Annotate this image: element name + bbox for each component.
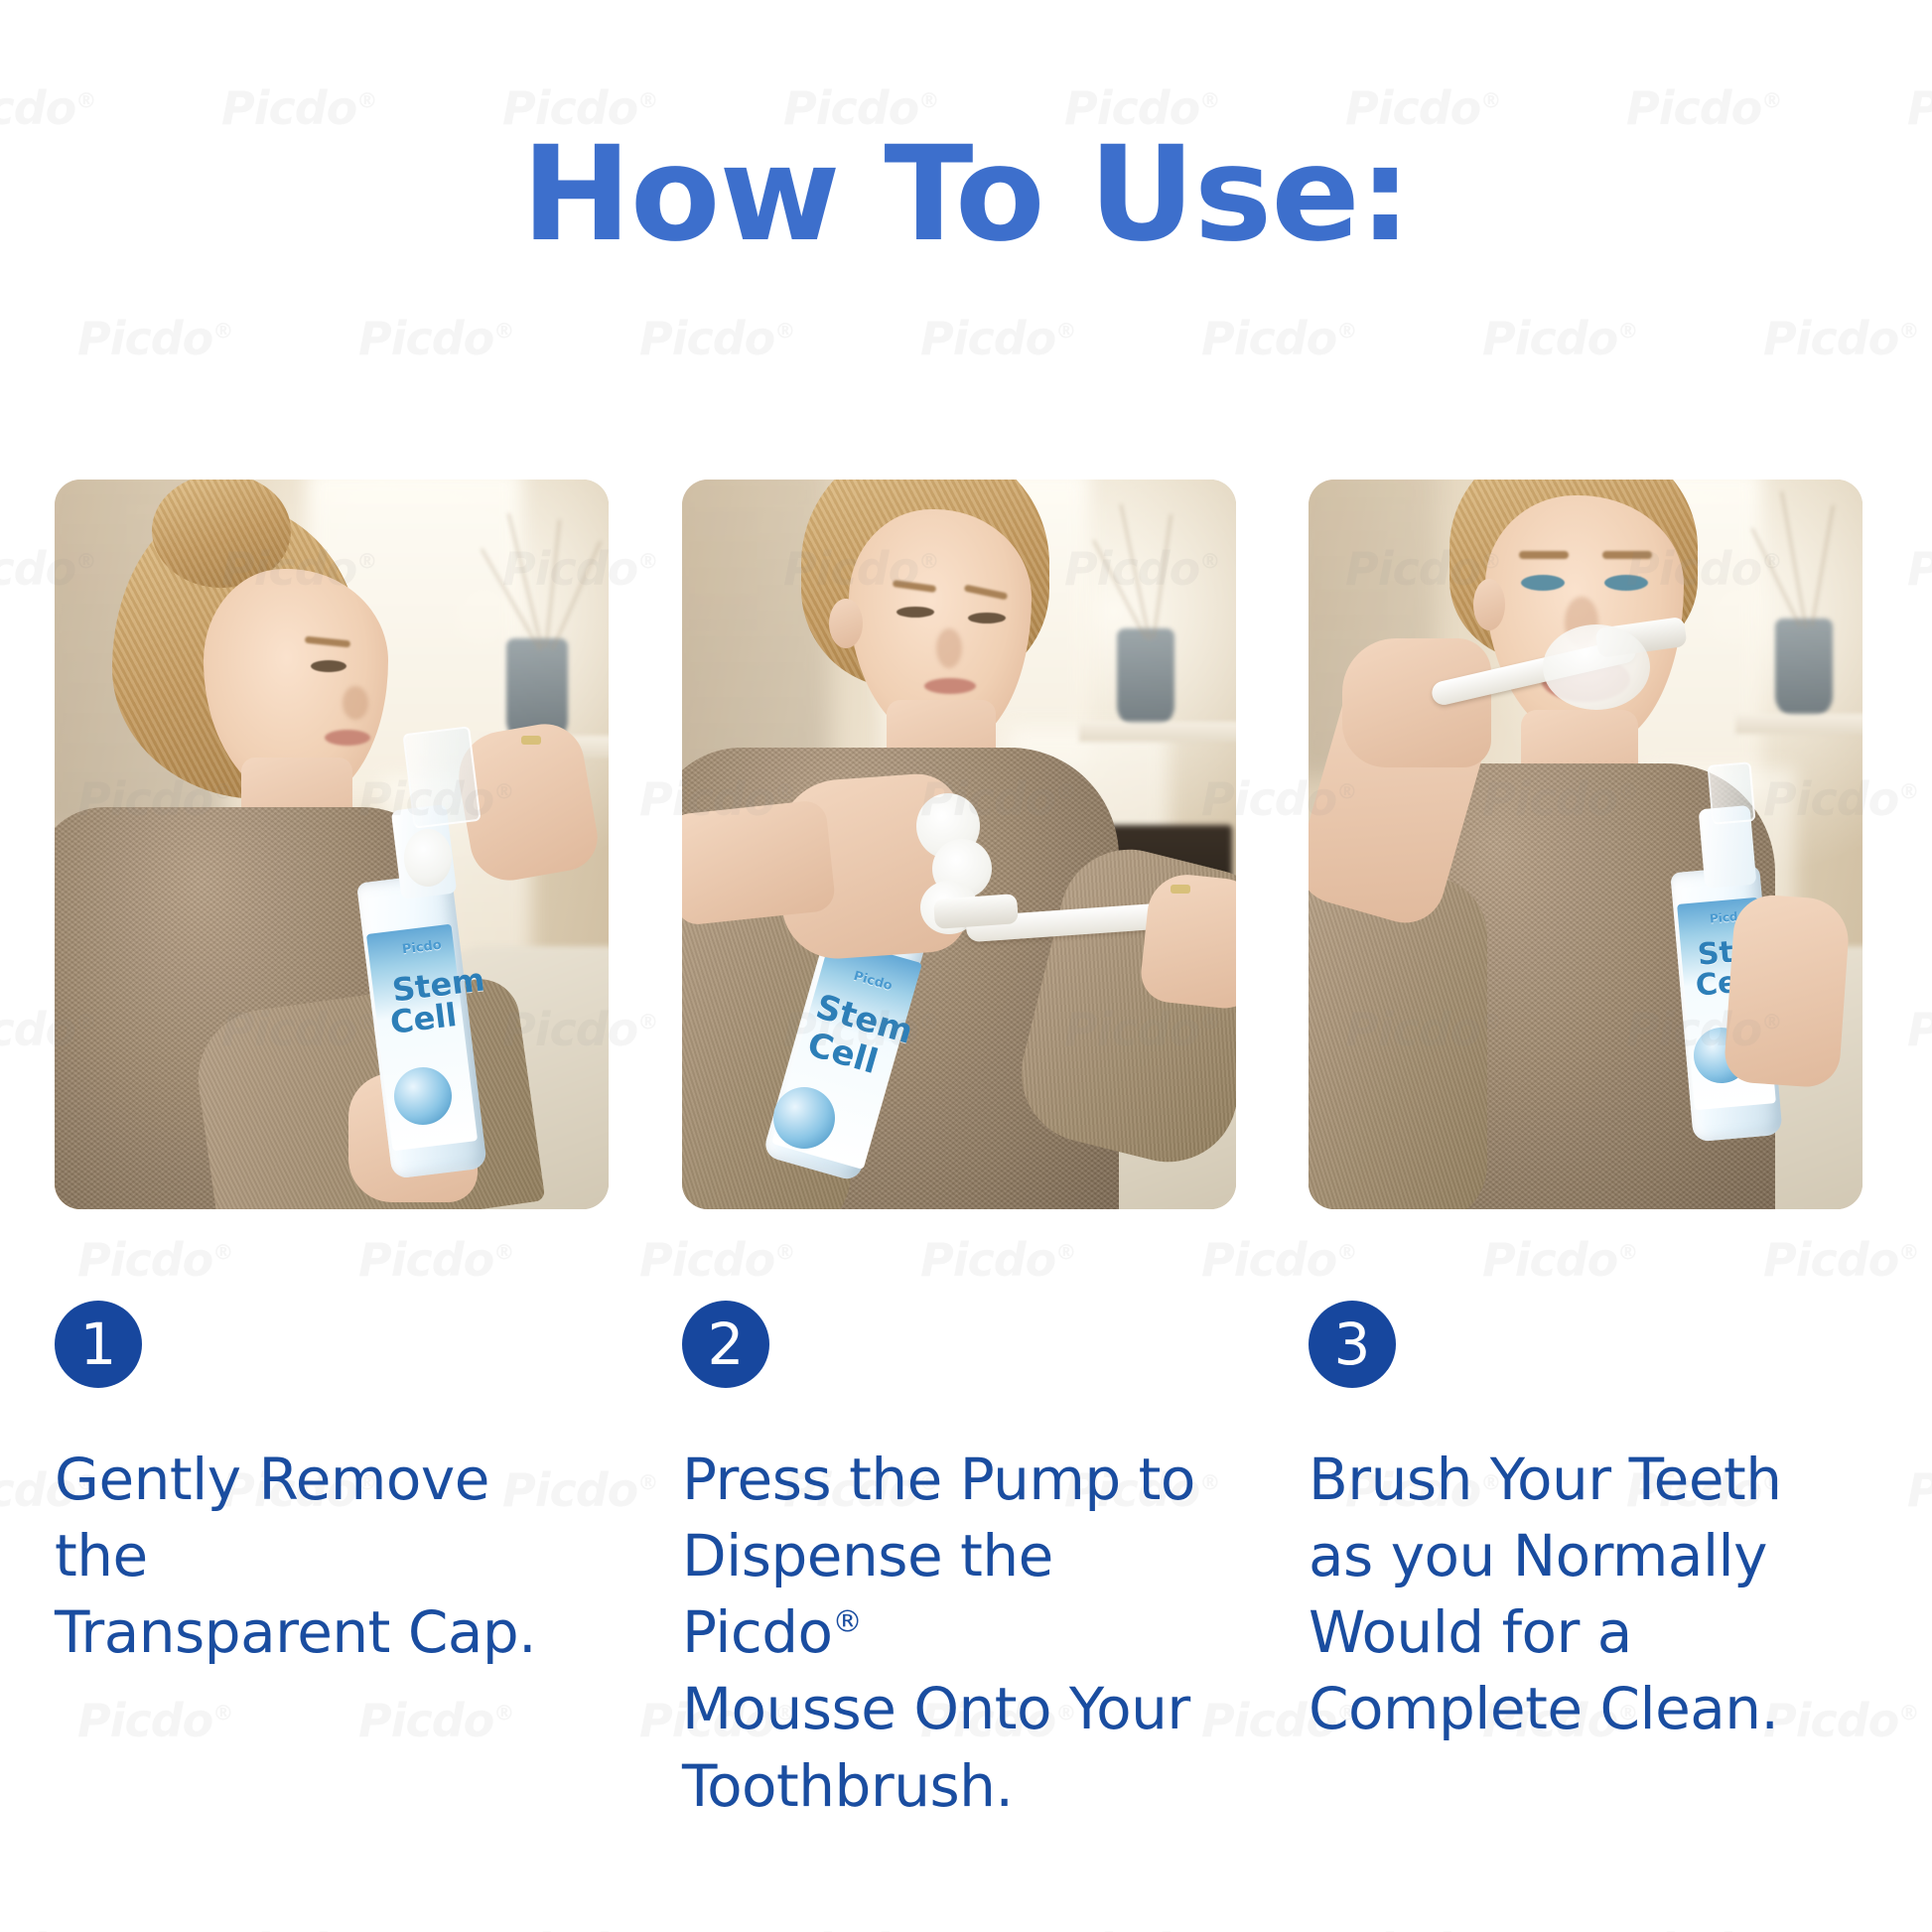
step-2-photo: Picdo Stem Cell [682, 480, 1236, 1209]
ring [521, 736, 541, 745]
watermark-picdo: Picdo® [1201, 1233, 1356, 1287]
step-1-photo: Picdo Stem Cell [55, 480, 609, 1209]
lips [325, 730, 370, 746]
watermark-picdo: Picdo® [1763, 312, 1918, 365]
eye-left [1521, 575, 1565, 591]
sweater-sleeve [1309, 877, 1487, 1209]
watermark-picdo: Picdo® [221, 1924, 376, 1932]
step-2-text: Press the Pump to Dispense the Picdo® Mo… [682, 1442, 1198, 1825]
scene-2: Picdo Stem Cell [682, 480, 1236, 1209]
watermark-picdo: Picdo® [77, 1233, 232, 1287]
nose [343, 686, 368, 720]
brushing-hand [1342, 638, 1491, 767]
ring [1171, 885, 1190, 894]
scene-3: Picdo Stem Cell [1309, 480, 1863, 1209]
eye-left [897, 607, 934, 618]
watermark-picdo: Picdo® [920, 312, 1075, 365]
step-1-number-badge: 1 [55, 1301, 142, 1388]
watermark-picdo: Picdo® [1907, 542, 1932, 596]
twigs [1747, 489, 1863, 638]
watermark-picdo: Picdo® [358, 312, 513, 365]
watermark-picdo: Picdo® [221, 81, 376, 135]
bottle-label-globe [773, 1087, 835, 1149]
watermark-picdo: Picdo® [0, 81, 95, 135]
eyebrow-right [1602, 551, 1652, 559]
watermark-picdo: Picdo® [920, 1233, 1075, 1287]
eye-right [968, 613, 1006, 623]
ear [829, 599, 863, 648]
watermark-picdo: Picdo® [639, 312, 794, 365]
ear [1473, 579, 1505, 630]
watermark-picdo: Picdo® [1907, 81, 1932, 135]
eye-right [1604, 575, 1648, 591]
watermark-picdo: Picdo® [1345, 1924, 1500, 1932]
step-2-number-badge: 2 [682, 1301, 769, 1388]
how-to-use-infographic: How To Use: [0, 0, 1932, 1932]
watermark-picdo: Picdo® [1626, 81, 1781, 135]
watermark-picdo: Picdo® [1626, 1924, 1781, 1932]
watermark-picdo: Picdo® [1482, 312, 1637, 365]
toothbrush-head [933, 894, 1019, 929]
step-3-text: Brush Your Teeth as you Normally Would f… [1309, 1442, 1825, 1748]
watermark-picdo: Picdo® [1907, 1003, 1932, 1056]
step-2: 2 Press the Pump to Dispense the Picdo® … [682, 1301, 1198, 1825]
watermark-picdo: Picdo® [1763, 1233, 1918, 1287]
holding-hand [1724, 893, 1852, 1089]
watermark-picdo: Picdo® [358, 1233, 513, 1287]
transparent-cap [402, 726, 481, 829]
watermark-picdo: Picdo® [0, 1924, 95, 1932]
watermark-picdo: Picdo® [77, 312, 232, 365]
foam-in-pump [404, 829, 452, 887]
mantel-shelf [1735, 714, 1863, 734]
watermark-picdo: Picdo® [358, 1694, 513, 1747]
step-1-text: Gently Remove the Transparent Cap. [55, 1442, 571, 1671]
watermark-picdo: Picdo® [783, 1924, 938, 1932]
step-3: 3 Brush Your Teeth as you Normally Would… [1309, 1301, 1825, 1748]
page-title: How To Use: [0, 129, 1932, 260]
watermark-picdo: Picdo® [1482, 1233, 1637, 1287]
mantel-shelf [1079, 722, 1236, 742]
twigs [482, 509, 609, 658]
step-1: 1 Gently Remove the Transparent Cap. [55, 1301, 571, 1671]
step-3-number-badge: 3 [1309, 1301, 1396, 1388]
bottle-label-line2: Cell [388, 1000, 458, 1037]
watermark-picdo: Picdo® [1064, 1924, 1219, 1932]
twigs [1091, 501, 1220, 650]
eyebrow-left [1519, 551, 1569, 559]
eye [311, 660, 346, 672]
watermark-picdo: Picdo® [639, 1233, 794, 1287]
transparent-cap [1707, 761, 1755, 825]
watermark-picdo: Picdo® [1201, 312, 1356, 365]
lips [924, 678, 976, 694]
foam-on-mouth [1543, 624, 1650, 710]
step-3-photo: Picdo Stem Cell [1309, 480, 1863, 1209]
watermark-picdo: Picdo® [77, 1694, 232, 1747]
watermark-picdo: Picdo® [502, 1924, 657, 1932]
watermark-picdo: Picdo® [1907, 1924, 1932, 1932]
nose [936, 628, 962, 668]
forearm [682, 799, 836, 926]
watermark-picdo: Picdo® [1907, 1463, 1932, 1517]
scene-1: Picdo Stem Cell [55, 480, 609, 1209]
